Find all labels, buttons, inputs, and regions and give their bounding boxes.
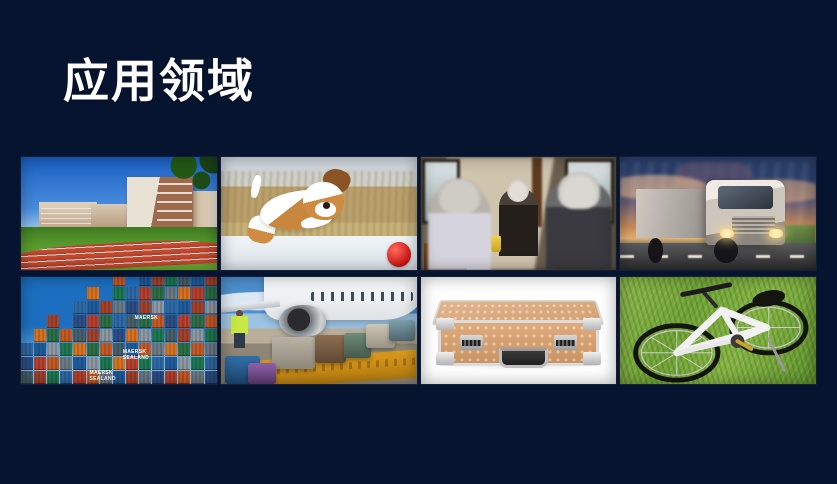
container-column (165, 277, 177, 384)
elderly-care-image (421, 157, 617, 270)
container-column (113, 277, 125, 384)
bicycle-illustration (620, 277, 816, 384)
shipping-container (191, 343, 203, 356)
container-column (178, 277, 190, 384)
shipping-container (73, 371, 85, 384)
shipping-container (34, 343, 46, 356)
shipping-container (34, 357, 46, 370)
shipping-container (191, 357, 203, 370)
shipping-container (205, 277, 217, 286)
shipping-container (191, 287, 203, 300)
shipping-container (165, 329, 177, 342)
ground-crew-figure (231, 307, 249, 348)
shipping-container (113, 287, 125, 300)
shipping-container (191, 329, 203, 342)
shipping-container (60, 329, 72, 342)
gallery-tile-bicycle[interactable] (620, 277, 816, 384)
pet-dog-image (221, 157, 417, 270)
image-gallery: MAERSK MAERSK SEALAND MAERSK SEALAND (21, 157, 816, 385)
shipping-container (139, 287, 151, 300)
container-column (126, 287, 138, 384)
red-ball-icon (387, 242, 410, 267)
shipping-container (178, 315, 190, 328)
shipping-container (152, 371, 164, 384)
shipping-container (60, 343, 72, 356)
container-column (191, 277, 203, 384)
shipping-container (139, 329, 151, 342)
gallery-tile-airport-baggage[interactable] (221, 277, 417, 384)
shipping-container (126, 287, 138, 300)
shipping-container (165, 357, 177, 370)
shipping-container (47, 315, 59, 328)
container-column (73, 301, 85, 384)
shipping-container (139, 371, 151, 384)
shipping-container (47, 329, 59, 342)
shipping-container (73, 301, 85, 314)
container-column (60, 329, 72, 384)
shipping-container (87, 315, 99, 328)
shipping-container (205, 371, 217, 384)
shipping-container (205, 343, 217, 356)
shipping-container (152, 357, 164, 370)
shipping-container (73, 315, 85, 328)
shipping-container (165, 277, 177, 286)
combination-lock-left (460, 335, 483, 350)
shipping-container (34, 329, 46, 342)
container-column (205, 277, 217, 384)
shipping-container (191, 315, 203, 328)
shipping-container (126, 329, 138, 342)
shipping-container (152, 343, 164, 356)
container-column (47, 315, 59, 384)
container-label-maersk-1: MAERSK (135, 316, 158, 321)
gallery-tile-school-campus[interactable] (21, 157, 217, 270)
shipping-container (100, 357, 112, 370)
shipping-container (47, 343, 59, 356)
case-handle (499, 348, 548, 368)
shipping-container (87, 343, 99, 356)
shipping-container (152, 301, 164, 314)
shipping-container (191, 301, 203, 314)
shipping-container (205, 301, 217, 314)
shipping-container (21, 371, 33, 384)
shipping-container (113, 301, 125, 314)
shipping-container (21, 343, 33, 356)
shipping-container (178, 329, 190, 342)
gallery-tile-elderly-care[interactable] (421, 157, 617, 270)
container-column (139, 277, 151, 384)
shipping-container (152, 287, 164, 300)
gallery-tile-shipping-containers[interactable]: MAERSK MAERSK SEALAND MAERSK SEALAND (21, 277, 217, 384)
shipping-container (100, 343, 112, 356)
shipping-container (205, 357, 217, 370)
gallery-tile-freight-truck[interactable] (620, 157, 816, 270)
shipping-container (100, 301, 112, 314)
shipping-container (73, 343, 85, 356)
shipping-container (165, 371, 177, 384)
shipping-containers-image: MAERSK MAERSK SEALAND MAERSK SEALAND (21, 277, 217, 384)
slide-root: 应用领域 (0, 0, 837, 484)
shipping-container (178, 371, 190, 384)
freight-truck-image (620, 157, 816, 270)
container-label-sealand-1: SEALAND (123, 356, 149, 361)
shipping-container (178, 343, 190, 356)
shipping-container (87, 357, 99, 370)
shipping-container (205, 287, 217, 300)
shipping-container (47, 357, 59, 370)
shipping-container (73, 329, 85, 342)
shipping-container (113, 329, 125, 342)
shipping-container (60, 357, 72, 370)
gallery-tile-pet-dog[interactable] (221, 157, 417, 270)
shipping-container (205, 329, 217, 342)
shipping-container (205, 315, 217, 328)
page-title: 应用领域 (63, 55, 255, 108)
shipping-container (60, 371, 72, 384)
aluminium-case-image (421, 277, 617, 384)
shipping-container (178, 287, 190, 300)
container-column (21, 343, 33, 384)
school-campus-image (21, 157, 217, 270)
combination-lock-right (554, 335, 577, 350)
shipping-container (100, 329, 112, 342)
shipping-container (178, 277, 190, 286)
shipping-container (191, 371, 203, 384)
shipping-container (47, 371, 59, 384)
shipping-container (178, 301, 190, 314)
shipping-container (100, 315, 112, 328)
shipping-container (152, 329, 164, 342)
shipping-container (152, 277, 164, 286)
shipping-container (126, 301, 138, 314)
shipping-container (165, 287, 177, 300)
container-column (34, 329, 46, 384)
airport-baggage-image (221, 277, 417, 384)
shipping-container (87, 329, 99, 342)
shipping-container (126, 371, 138, 384)
shipping-container (34, 371, 46, 384)
shipping-container (113, 277, 125, 286)
container-column (152, 277, 164, 384)
shipping-container (165, 343, 177, 356)
shipping-container (165, 315, 177, 328)
shipping-container (191, 277, 203, 286)
shipping-container (87, 287, 99, 300)
container-label-sealand-2: SEALAND (90, 377, 116, 382)
bicycle-image (620, 277, 816, 384)
container-label-maersk-2: MAERSK (123, 350, 146, 355)
shipping-container (178, 357, 190, 370)
shipping-container (87, 301, 99, 314)
shipping-container (165, 301, 177, 314)
shipping-container (113, 315, 125, 328)
gallery-tile-aluminium-case[interactable] (421, 277, 617, 384)
shipping-container (139, 277, 151, 286)
shipping-container (139, 301, 151, 314)
shipping-container (73, 357, 85, 370)
shipping-container (21, 357, 33, 370)
